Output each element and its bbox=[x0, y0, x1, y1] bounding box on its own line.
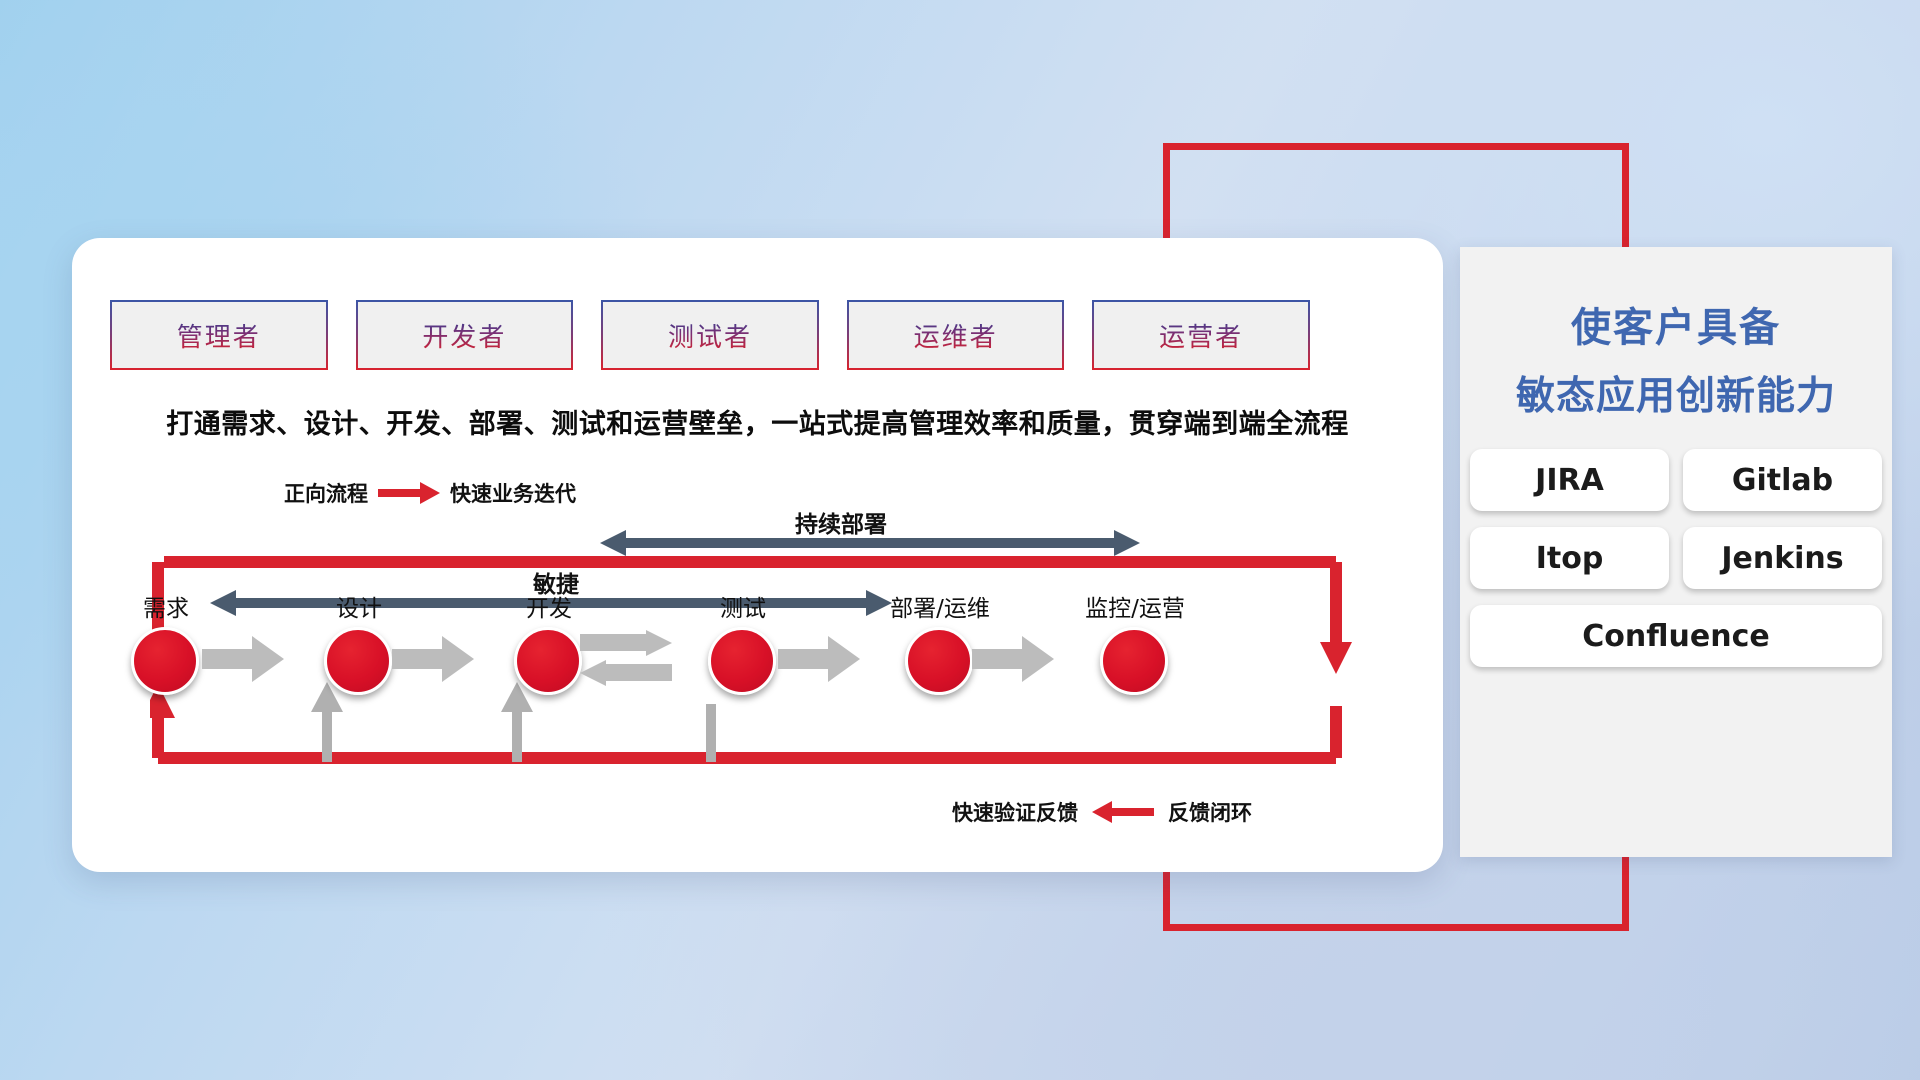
tool-chip-itop[interactable]: Itop bbox=[1470, 527, 1669, 589]
gray-arrow-test-to-deploy bbox=[778, 636, 860, 682]
role-label: 管理者 bbox=[177, 317, 261, 354]
double-arrow-continuous-deployment bbox=[600, 528, 1140, 558]
tool-list: JIRA Gitlab Itop Jenkins Confluence bbox=[1470, 449, 1882, 667]
tagline-text: 打通需求、设计、开发、部署、测试和运营壁垒，一站式提高管理效率和质量，贯穿端到端… bbox=[72, 402, 1443, 441]
roles-row: 管理者 开发者 测试者 运维者 运营者 bbox=[110, 300, 1310, 370]
gray-arrow-design-to-develop bbox=[392, 636, 474, 682]
role-box-tester[interactable]: 测试者 bbox=[601, 300, 819, 370]
role-label: 运维者 bbox=[914, 317, 998, 354]
node-circle bbox=[324, 627, 392, 695]
forward-flow-from-label: 正向流程 bbox=[284, 478, 368, 508]
feedback-to-label: 快速验证反馈 bbox=[952, 797, 1078, 827]
pipeline-node-test[interactable]: 测试 bbox=[708, 627, 778, 697]
gray-arrow-deploy-to-monitor bbox=[972, 636, 1054, 682]
role-label: 运营者 bbox=[1159, 317, 1243, 354]
node-circle bbox=[1100, 627, 1168, 695]
pipeline-node-design[interactable]: 设计 bbox=[324, 627, 394, 697]
node-circle bbox=[514, 627, 582, 695]
red-arrow-right-icon bbox=[378, 482, 440, 504]
feedback-from-label: 反馈闭环 bbox=[1168, 797, 1252, 827]
panel-heading-line1: 使客户具备 bbox=[1460, 295, 1892, 353]
pipeline-node-label: 开发 bbox=[526, 589, 572, 623]
role-box-operations[interactable]: 运营者 bbox=[1092, 300, 1310, 370]
forward-flow-to-label: 快速业务迭代 bbox=[450, 478, 576, 508]
feedback-caption: 快速验证反馈 反馈闭环 bbox=[952, 797, 1252, 827]
role-box-manager[interactable]: 管理者 bbox=[110, 300, 328, 370]
tool-chip-jenkins[interactable]: Jenkins bbox=[1683, 527, 1882, 589]
tool-chip-gitlab[interactable]: Gitlab bbox=[1683, 449, 1882, 511]
value-panel: 使客户具备 敏态应用创新能力 JIRA Gitlab Itop Jenkins … bbox=[1460, 247, 1892, 857]
node-circle bbox=[131, 627, 199, 695]
pipeline-node-monitor-operate[interactable]: 监控/运营 bbox=[1100, 627, 1170, 697]
gray-arrow-requirement-to-design bbox=[202, 636, 284, 682]
pipeline-node-label: 测试 bbox=[720, 589, 766, 623]
red-arrow-left-icon bbox=[1092, 801, 1154, 823]
pipeline-node-label: 监控/运营 bbox=[1085, 589, 1185, 623]
forward-flow-caption: 正向流程 快速业务迭代 bbox=[284, 478, 576, 508]
pipeline: 需求 设计 开发 测试 部署/运维 监控/运营 bbox=[100, 612, 1400, 722]
pipeline-node-requirement[interactable]: 需求 bbox=[131, 627, 201, 697]
pipeline-node-label: 部署/运维 bbox=[890, 589, 990, 623]
role-label: 开发者 bbox=[422, 317, 506, 354]
panel-heading-line2: 敏态应用创新能力 bbox=[1460, 365, 1892, 421]
pipeline-node-deploy-ops[interactable]: 部署/运维 bbox=[905, 627, 975, 697]
node-circle bbox=[708, 627, 776, 695]
pipeline-node-develop[interactable]: 开发 bbox=[514, 627, 584, 697]
tool-chip-confluence[interactable]: Confluence bbox=[1470, 605, 1882, 667]
gray-cycle-arrow-develop-test bbox=[580, 630, 672, 690]
role-box-developer[interactable]: 开发者 bbox=[356, 300, 574, 370]
tool-chip-jira[interactable]: JIRA bbox=[1470, 449, 1669, 511]
node-circle bbox=[905, 627, 973, 695]
pipeline-node-label: 需求 bbox=[143, 589, 189, 623]
pipeline-node-label: 设计 bbox=[336, 589, 382, 623]
role-box-ops[interactable]: 运维者 bbox=[847, 300, 1065, 370]
role-label: 测试者 bbox=[668, 317, 752, 354]
